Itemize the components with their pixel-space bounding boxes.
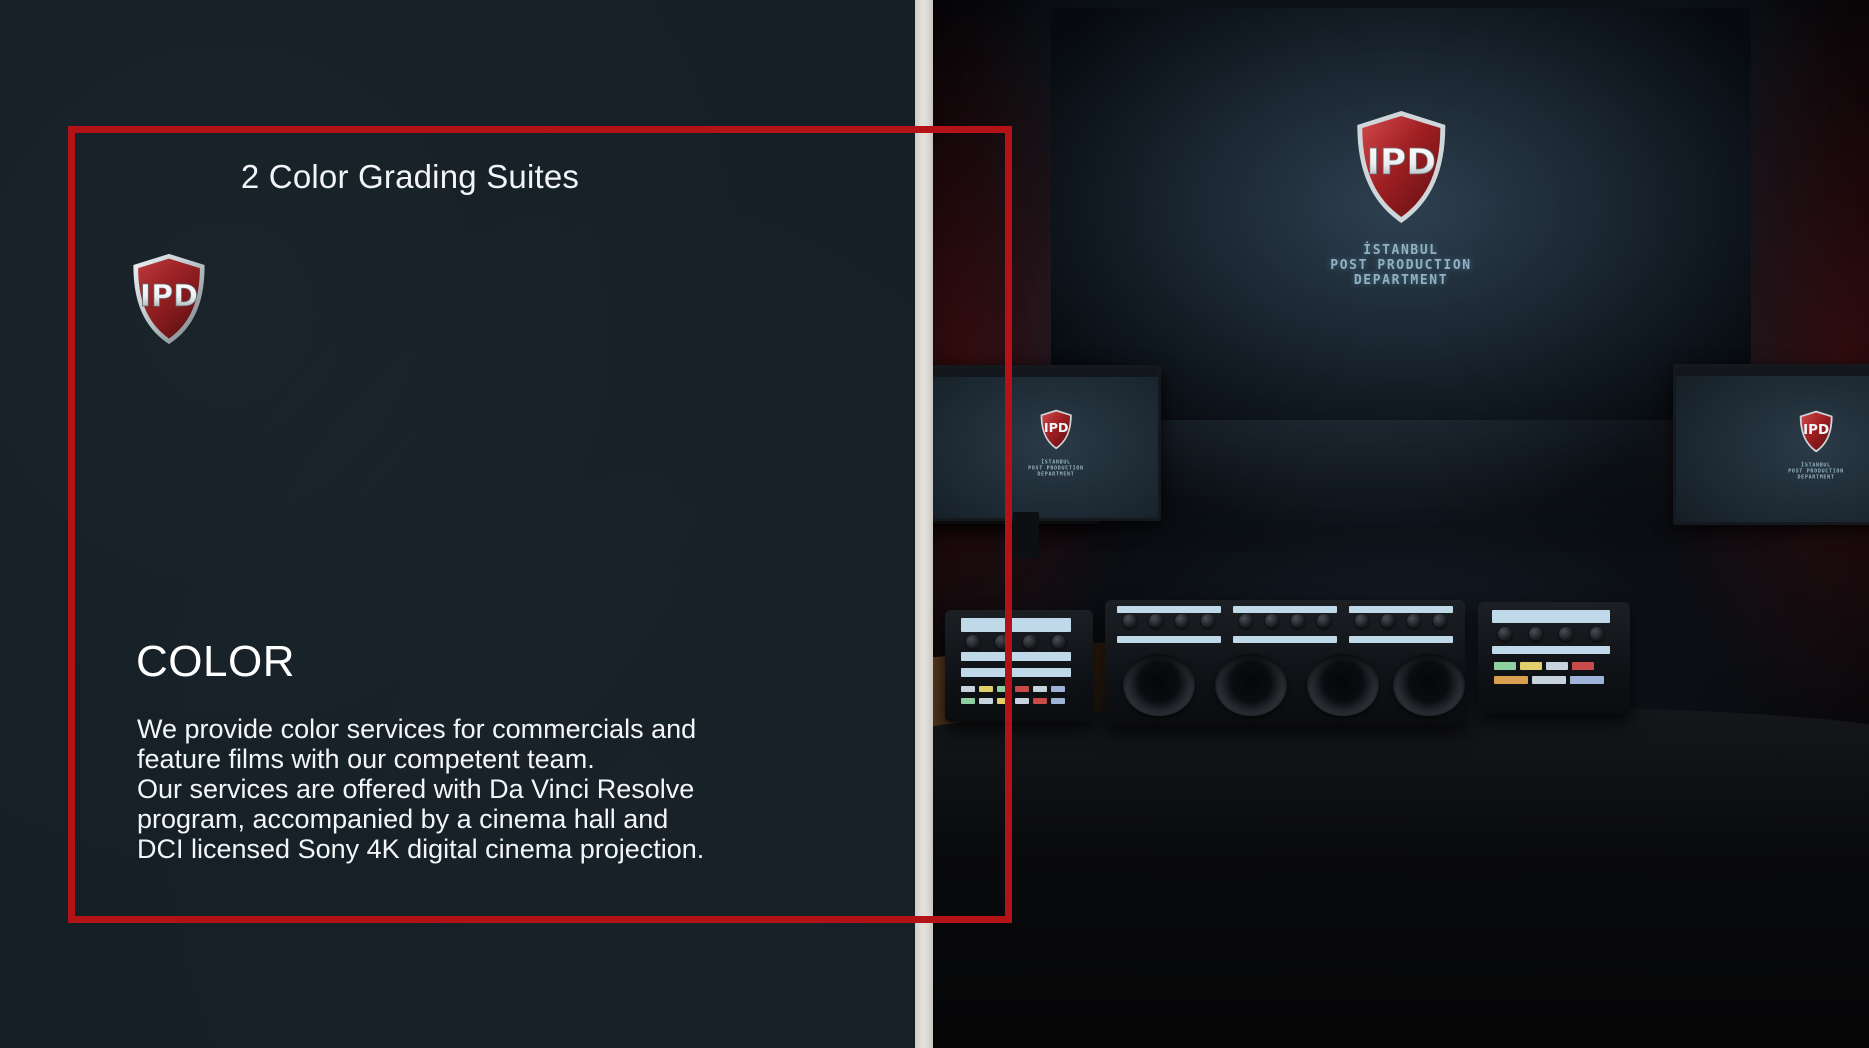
trackball-knob-row-a[interactable] xyxy=(1117,612,1221,630)
center-left-monitor-brand: IPD İSTANBUL POST PRODUCTION DEPARTMENT xyxy=(1028,409,1084,478)
center-left-monitor-menubar xyxy=(933,368,1158,377)
console-desk xyxy=(933,705,1869,1048)
keypad-knob[interactable] xyxy=(1052,635,1066,649)
right-panel-knob-row[interactable] xyxy=(1490,626,1612,642)
right-panel-knob[interactable] xyxy=(1529,627,1543,641)
right-panel-button[interactable] xyxy=(1570,676,1604,684)
right-panel-button[interactable] xyxy=(1572,662,1594,670)
grading-trackball-panel[interactable] xyxy=(1105,600,1465,725)
section-heading: COLOR xyxy=(136,638,295,686)
keypad-button[interactable] xyxy=(1015,698,1029,704)
right-panel-knob[interactable] xyxy=(1590,627,1604,641)
trackball-gamma[interactable] xyxy=(1215,654,1287,716)
center-left-reference-monitor: IPD İSTANBUL POST PRODUCTION DEPARTMENT xyxy=(933,365,1161,521)
section-description: We provide color services for commercial… xyxy=(137,714,857,864)
trackball-knob[interactable] xyxy=(1123,614,1137,628)
grading-keypad-panel[interactable] xyxy=(945,610,1093,722)
ipd-shield-icon: IPD xyxy=(1798,409,1834,453)
suite-photograph: IPD İSTANBUL POST PRODUCTION DEPARTMENT xyxy=(933,0,1869,1048)
trackball-lift[interactable] xyxy=(1123,654,1195,716)
trackball-lcd-display xyxy=(1233,606,1337,613)
trackball-lcd-strip xyxy=(1233,636,1337,643)
keypad-button[interactable] xyxy=(997,698,1011,704)
right-reference-monitor: IPD İSTANBUL POST PRODUCTION DEPARTMENT xyxy=(1673,364,1869,525)
trackball-lcd-strip xyxy=(1117,636,1221,643)
keypad-lcd-strip xyxy=(961,668,1071,677)
keypad-button[interactable] xyxy=(961,686,975,692)
trackball-knob-row-c[interactable] xyxy=(1349,612,1453,630)
trackball-lcd-display xyxy=(1117,606,1221,613)
keypad-button[interactable] xyxy=(1051,698,1065,704)
cinema-projection-screen: IPD İSTANBUL POST PRODUCTION DEPARTMENT xyxy=(1051,8,1751,420)
suite-count-title: 2 Color Grading Suites xyxy=(0,158,820,196)
keypad-button[interactable] xyxy=(1051,686,1065,692)
right-panel-knob[interactable] xyxy=(1559,627,1573,641)
right-panel-button[interactable] xyxy=(1532,676,1566,684)
trackball-knob[interactable] xyxy=(1355,614,1369,628)
trackball-knob[interactable] xyxy=(1239,614,1253,628)
trackball-knob[interactable] xyxy=(1291,614,1305,628)
ipd-shield-icon: IPD xyxy=(1039,409,1073,451)
screen-brand-lockup: IPD İSTANBUL POST PRODUCTION DEPARTMENT xyxy=(1330,108,1471,288)
trackball-knob[interactable] xyxy=(1149,614,1163,628)
keypad-knob[interactable] xyxy=(966,635,980,649)
right-panel-button[interactable] xyxy=(1494,676,1528,684)
svg-text:IPD: IPD xyxy=(1044,421,1069,436)
keypad-knob[interactable] xyxy=(995,635,1009,649)
keypad-button[interactable] xyxy=(997,686,1011,692)
panel-divider xyxy=(915,0,933,1048)
trackball-gain[interactable] xyxy=(1307,654,1379,716)
trackball-knob[interactable] xyxy=(1433,614,1447,628)
right-panel-lcd-strip xyxy=(1492,646,1610,654)
trackball-lcd-display xyxy=(1349,606,1453,613)
trackball-knob[interactable] xyxy=(1407,614,1421,628)
grading-right-panel[interactable] xyxy=(1478,602,1630,714)
right-panel-button[interactable] xyxy=(1494,662,1516,670)
right-monitor-tagline: İSTANBUL POST PRODUCTION DEPARTMENT xyxy=(1788,462,1844,480)
keypad-button[interactable] xyxy=(1033,686,1047,692)
right-monitor-brand: IPD İSTANBUL POST PRODUCTION DEPARTMENT xyxy=(1788,409,1844,480)
keypad-button[interactable] xyxy=(1015,686,1029,692)
right-monitor-menubar xyxy=(1676,367,1869,376)
keypad-knob[interactable] xyxy=(1023,635,1037,649)
svg-text:IPD: IPD xyxy=(140,279,198,314)
trackball-knob[interactable] xyxy=(1381,614,1395,628)
trackball-offset[interactable] xyxy=(1393,654,1465,716)
svg-text:IPD: IPD xyxy=(1803,423,1829,438)
ipd-shield-icon: IPD xyxy=(131,252,207,346)
left-monitor-stand xyxy=(1013,512,1039,558)
keypad-lcd-display xyxy=(961,618,1071,632)
slide-root: IPD İSTANBUL POST PRODUCTION DEPARTMENT xyxy=(0,0,1869,1048)
trackball-knob-row-b[interactable] xyxy=(1233,612,1337,630)
svg-text:IPD: IPD xyxy=(1366,142,1436,183)
keypad-button[interactable] xyxy=(961,698,975,704)
right-panel-button[interactable] xyxy=(1520,662,1542,670)
center-left-monitor-tagline: İSTANBUL POST PRODUCTION DEPARTMENT xyxy=(1028,460,1084,478)
right-panel-knob[interactable] xyxy=(1498,627,1512,641)
trackball-knob[interactable] xyxy=(1175,614,1189,628)
keypad-button[interactable] xyxy=(979,686,993,692)
keypad-lcd-strip xyxy=(961,652,1071,661)
trackball-knob[interactable] xyxy=(1265,614,1279,628)
right-panel-button[interactable] xyxy=(1546,662,1568,670)
keypad-button[interactable] xyxy=(979,698,993,704)
trackball-knob[interactable] xyxy=(1317,614,1331,628)
keypad-button[interactable] xyxy=(1033,698,1047,704)
keypad-knob-row[interactable] xyxy=(959,634,1073,650)
trackball-knob[interactable] xyxy=(1201,614,1215,628)
ipd-shield-icon: IPD xyxy=(1353,108,1449,226)
screen-brand-tagline: İSTANBUL POST PRODUCTION DEPARTMENT xyxy=(1330,243,1471,288)
panel-brand-logo: IPD xyxy=(131,252,207,351)
trackball-lcd-strip xyxy=(1349,636,1453,643)
right-panel-lcd xyxy=(1492,610,1610,623)
